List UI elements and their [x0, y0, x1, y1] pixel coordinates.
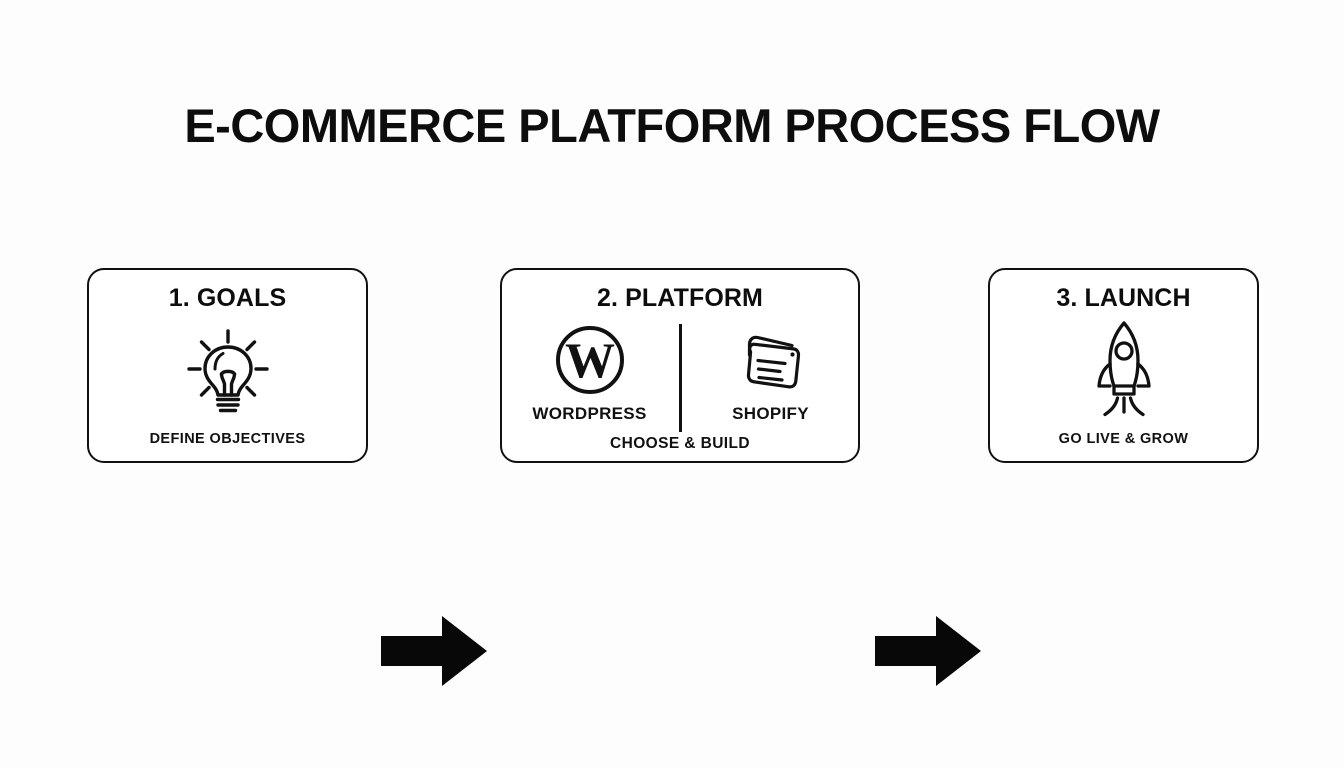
step-title-goals: 1. GOALS: [89, 284, 366, 313]
step-caption-platform: CHOOSE & BUILD: [502, 435, 858, 453]
platform-label-wordpress: WORDPRESS: [532, 404, 646, 424]
platform-label-shopify: SHOPIFY: [732, 404, 809, 424]
platform-divider: [679, 324, 682, 432]
step-card-launch[interactable]: 3. LAUNCH: [988, 268, 1259, 463]
rocket-icon: [990, 320, 1257, 418]
step-caption-launch: GO LIVE & GROW: [990, 431, 1257, 447]
shopify-bag-icon: [735, 322, 807, 398]
wordpress-logo-icon: W: [554, 322, 626, 398]
platform-options: W WORDPRESS: [502, 322, 858, 437]
arrow-right-2-icon: [873, 613, 983, 694]
process-flow-row: 1. GOALS: [0, 268, 1344, 464]
page-title: E-COMMERCE PLATFORM PROCESS FLOW: [0, 102, 1344, 149]
arrow-right-1-icon: [379, 613, 489, 694]
step-card-platform[interactable]: 2. PLATFORM W WORDPRESS: [500, 268, 860, 463]
step-caption-goals: DEFINE OBJECTIVES: [89, 431, 366, 447]
step-card-goals[interactable]: 1. GOALS: [87, 268, 368, 463]
diagram-canvas: E-COMMERCE PLATFORM PROCESS FLOW 1. GOAL…: [0, 0, 1344, 768]
platform-option-wordpress[interactable]: W WORDPRESS: [515, 322, 665, 424]
platform-option-shopify[interactable]: SHOPIFY: [696, 322, 846, 424]
svg-text:W: W: [565, 332, 615, 388]
step-title-launch: 3. LAUNCH: [990, 284, 1257, 313]
step-title-platform: 2. PLATFORM: [502, 284, 858, 313]
lightbulb-icon: [89, 325, 366, 417]
